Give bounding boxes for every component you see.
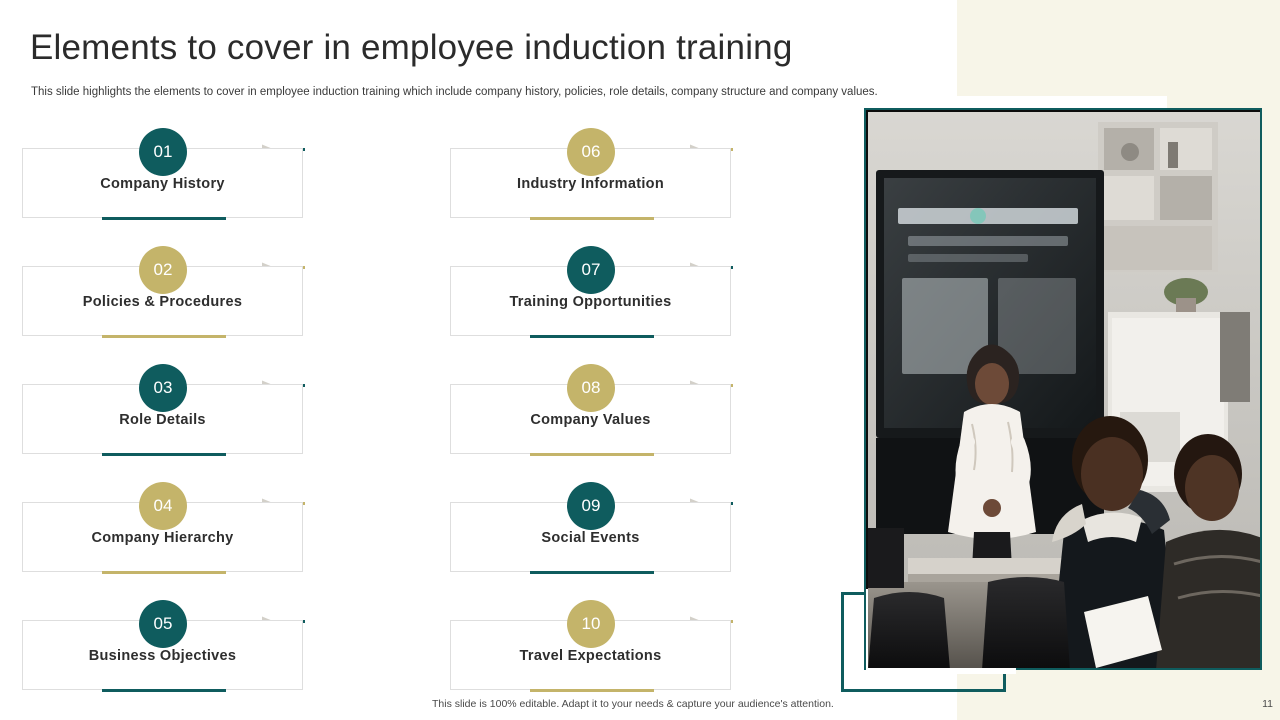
card-label: Business Objectives xyxy=(22,648,303,664)
training-photo xyxy=(864,108,1262,670)
card-bottom-accent-bar xyxy=(530,689,654,692)
card-number-badge: 05 xyxy=(139,600,187,648)
card-label: Travel Expectations xyxy=(450,648,731,664)
element-card[interactable]: 09Social Events xyxy=(450,482,735,600)
card-number-badge: 04 xyxy=(139,482,187,530)
card-bottom-accent-bar xyxy=(102,571,226,574)
card-number-badge: 08 xyxy=(567,364,615,412)
card-label: Company History xyxy=(22,176,303,192)
footer-note: This slide is 100% editable. Adapt it to… xyxy=(432,698,834,710)
card-label: Industry Information xyxy=(450,176,731,192)
card-label: Policies & Procedures xyxy=(22,294,303,310)
card-bottom-accent-bar xyxy=(530,217,654,220)
element-card[interactable]: 06Industry Information xyxy=(450,128,735,246)
card-number-badge: 03 xyxy=(139,364,187,412)
card-label: Role Details xyxy=(22,412,303,428)
card-number-badge: 09 xyxy=(567,482,615,530)
card-number-badge: 07 xyxy=(567,246,615,294)
card-bottom-accent-bar xyxy=(102,217,226,220)
card-label: Company Values xyxy=(450,412,731,428)
element-card[interactable]: 05Business Objectives xyxy=(22,600,307,718)
cards-column-left: 01Company History02Policies & Procedures… xyxy=(22,128,307,718)
card-label: Training Opportunities xyxy=(450,294,731,310)
card-bottom-accent-bar xyxy=(530,335,654,338)
card-bottom-accent-bar xyxy=(102,453,226,456)
element-card[interactable]: 04Company Hierarchy xyxy=(22,482,307,600)
card-number-badge: 01 xyxy=(139,128,187,176)
element-card[interactable]: 03Role Details xyxy=(22,364,307,482)
decorative-block-top-right xyxy=(957,0,1167,96)
card-label: Company Hierarchy xyxy=(22,530,303,546)
card-bottom-accent-bar xyxy=(530,453,654,456)
card-bottom-accent-bar xyxy=(102,335,226,338)
card-number-badge: 02 xyxy=(139,246,187,294)
element-card[interactable]: 08Company Values xyxy=(450,364,735,482)
card-bottom-accent-bar xyxy=(102,689,226,692)
card-number-badge: 06 xyxy=(567,128,615,176)
element-card[interactable]: 07Training Opportunities xyxy=(450,246,735,364)
meeting-room-illustration xyxy=(868,112,1262,670)
training-photo-image xyxy=(868,112,1262,670)
page-number: 11 xyxy=(1262,698,1273,710)
element-card[interactable]: 01Company History xyxy=(22,128,307,246)
card-bottom-accent-bar xyxy=(530,571,654,574)
card-label: Social Events xyxy=(450,530,731,546)
cards-column-right: 06Industry Information07Training Opportu… xyxy=(450,128,735,718)
card-number-badge: 10 xyxy=(567,600,615,648)
page-title: Elements to cover in employee induction … xyxy=(30,28,793,68)
element-card[interactable]: 02Policies & Procedures xyxy=(22,246,307,364)
page-subtitle: This slide highlights the elements to co… xyxy=(31,86,878,98)
